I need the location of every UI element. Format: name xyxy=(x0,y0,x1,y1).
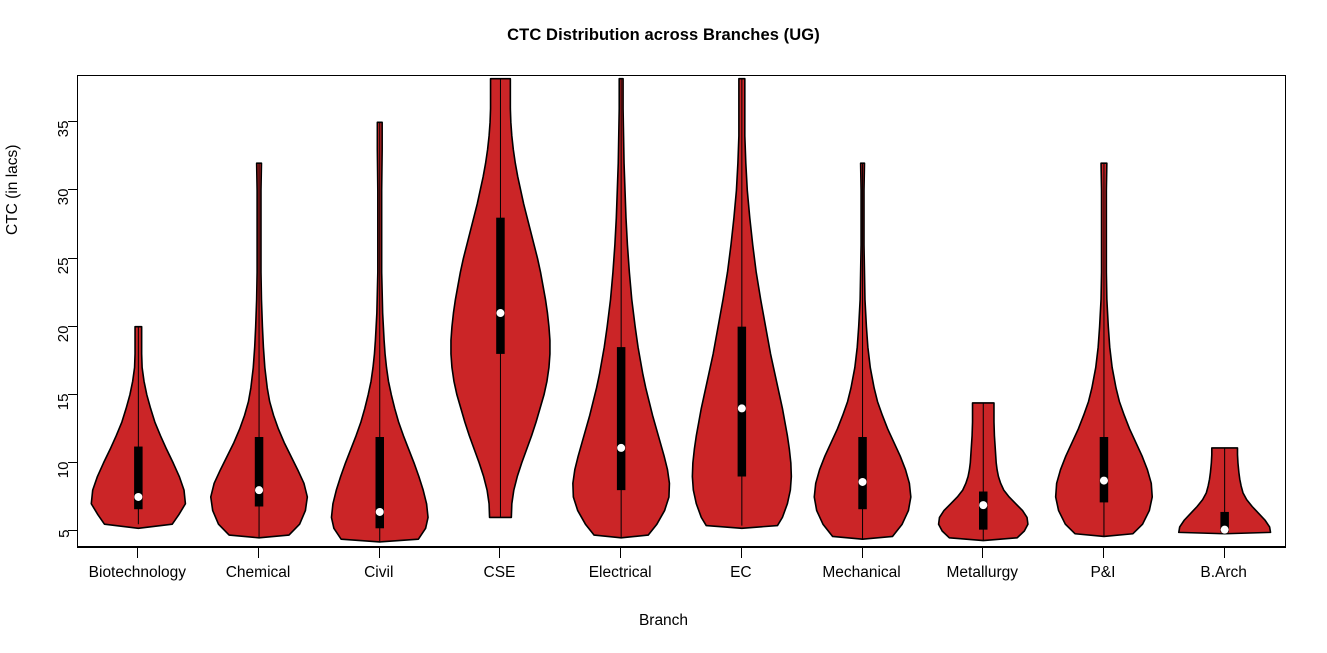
y-tick-label: 10 xyxy=(56,461,73,478)
iqr-box xyxy=(1100,437,1109,502)
y-tick-label: 15 xyxy=(56,393,73,410)
median-dot xyxy=(1100,477,1108,485)
median-dot xyxy=(1221,526,1229,534)
x-tick-mark xyxy=(379,548,380,558)
x-axis: BiotechnologyChemicalCivilCSEElectricalE… xyxy=(0,547,1327,607)
y-tick-label: 35 xyxy=(56,121,73,138)
iqr-box xyxy=(738,327,747,477)
violin-mechanical xyxy=(814,163,911,539)
violin-chemical xyxy=(211,163,308,538)
x-tick-mark xyxy=(499,548,500,558)
x-tick-label-b-arch: B.Arch xyxy=(1200,564,1247,582)
median-dot xyxy=(738,404,746,412)
y-tick-label: 30 xyxy=(56,189,73,206)
iqr-box xyxy=(979,492,988,530)
violin-metallurgy xyxy=(939,403,1028,541)
x-tick-mark xyxy=(137,548,138,558)
median-dot xyxy=(376,508,384,516)
x-tick-mark xyxy=(1103,548,1104,558)
x-tick-mark xyxy=(620,548,621,558)
iqr-box xyxy=(255,437,263,506)
y-tick-label: 25 xyxy=(56,257,73,274)
median-dot xyxy=(496,309,504,317)
x-tick-mark xyxy=(862,548,863,558)
x-tick-mark xyxy=(741,548,742,558)
violin-biotechnology xyxy=(91,327,185,529)
x-tick-mark xyxy=(982,548,983,558)
violin-civil xyxy=(331,122,428,542)
x-tick-label-mechanical: Mechanical xyxy=(822,564,900,582)
x-tick-label-p-i: P&I xyxy=(1090,564,1115,582)
x-tick-label-electrical: Electrical xyxy=(589,564,652,582)
plot-area xyxy=(77,75,1286,547)
y-tick-label: 5 xyxy=(56,530,73,538)
iqr-box xyxy=(496,218,505,354)
violin-p-i xyxy=(1056,163,1153,536)
iqr-box xyxy=(858,437,867,509)
iqr-box xyxy=(617,347,626,490)
x-tick-label-metallurgy: Metallurgy xyxy=(947,564,1019,582)
x-tick-mark xyxy=(1224,548,1225,558)
x-tick-label-chemical: Chemical xyxy=(226,564,291,582)
violin-cse xyxy=(451,79,550,518)
y-axis: 5101520253035 xyxy=(0,75,78,547)
violin-b-arch xyxy=(1179,448,1271,534)
violin-plot-figure: CTC Distribution across Branches (UG) CT… xyxy=(0,0,1327,653)
page-title: CTC Distribution across Branches (UG) xyxy=(0,26,1327,45)
x-tick-label-ec: EC xyxy=(730,564,752,582)
y-tick-label: 20 xyxy=(56,325,73,342)
x-axis-title: Branch xyxy=(0,612,1327,630)
median-dot xyxy=(979,501,987,509)
median-dot xyxy=(255,486,263,494)
x-tick-label-civil: Civil xyxy=(364,564,393,582)
violin-electrical xyxy=(573,79,670,538)
violin-ec xyxy=(692,79,791,529)
x-tick-label-biotechnology: Biotechnology xyxy=(89,564,186,582)
median-dot xyxy=(617,444,625,452)
median-dot xyxy=(134,493,142,501)
violin-shapes xyxy=(78,76,1285,546)
x-tick-mark xyxy=(258,548,259,558)
median-dot xyxy=(859,478,867,486)
x-tick-label-cse: CSE xyxy=(484,564,516,582)
